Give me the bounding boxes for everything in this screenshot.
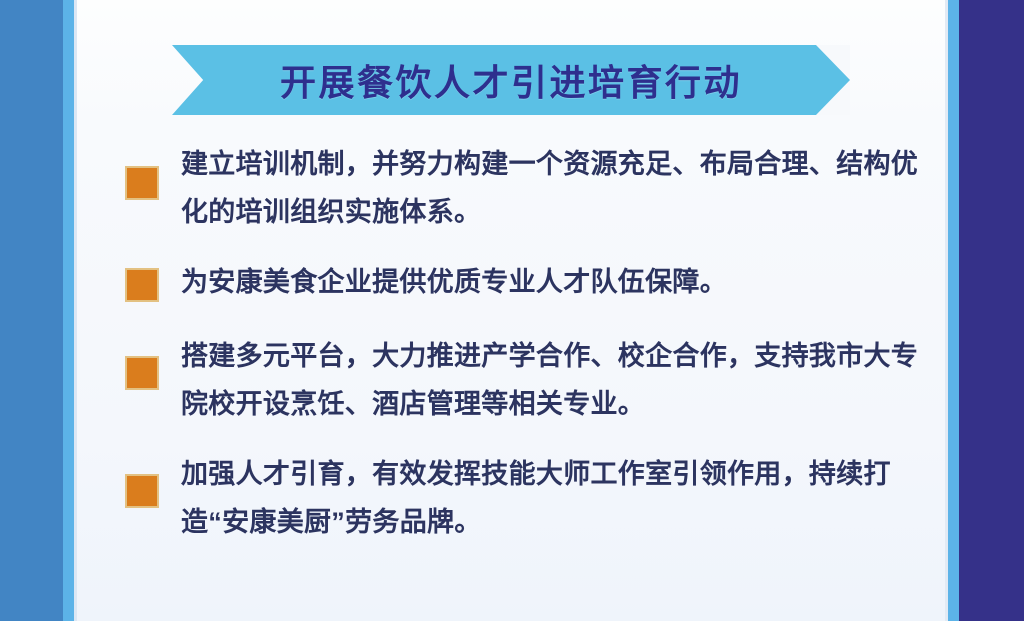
content-stage: 开展餐饮人才引进培育行动 建立培训机制，并努力构建一个资源充足、布局合理、结构优… xyxy=(77,0,945,621)
list-item: 为安康美食企业提供优质专业人才队伍保障。 xyxy=(125,258,925,306)
orange-square-bullet-icon xyxy=(125,474,159,508)
orange-square-bullet-icon xyxy=(125,166,159,200)
list-item: 搭建多元平台，大力推进产学合作、校企合作，支持我市大专院校开设烹饪、酒店管理等相… xyxy=(125,332,925,428)
orange-square-bullet-icon xyxy=(125,356,159,390)
list-item-text: 为安康美食企业提供优质专业人才队伍保障。 xyxy=(181,258,925,306)
list-item: 建立培训机制，并努力构建一个资源充足、布局合理、结构优化的培训组织实施体系。 xyxy=(125,140,925,236)
bullet-list: 建立培训机制，并努力构建一个资源充足、布局合理、结构优化的培训组织实施体系。 为… xyxy=(125,140,925,546)
left-accent-stripe xyxy=(63,0,74,621)
list-item-text: 加强人才引育，有效发挥技能大师工作室引领作用，持续打造“安康美厨”劳务品牌。 xyxy=(181,450,925,546)
right-decorative-band xyxy=(959,0,1024,621)
page-title: 开展餐饮人才引进培育行动 xyxy=(172,45,850,115)
list-item: 加强人才引育，有效发挥技能大师工作室引领作用，持续打造“安康美厨”劳务品牌。 xyxy=(125,450,925,546)
orange-square-bullet-icon xyxy=(125,268,159,302)
list-item-text: 建立培训机制，并努力构建一个资源充足、布局合理、结构优化的培训组织实施体系。 xyxy=(181,140,925,236)
list-item-text: 搭建多元平台，大力推进产学合作、校企合作，支持我市大专院校开设烹饪、酒店管理等相… xyxy=(181,332,925,428)
title-ribbon: 开展餐饮人才引进培育行动 xyxy=(172,45,850,115)
slide-root: 开展餐饮人才引进培育行动 建立培训机制，并努力构建一个资源充足、布局合理、结构优… xyxy=(0,0,1024,621)
right-accent-stripe xyxy=(948,0,959,621)
left-decorative-band xyxy=(0,0,63,621)
